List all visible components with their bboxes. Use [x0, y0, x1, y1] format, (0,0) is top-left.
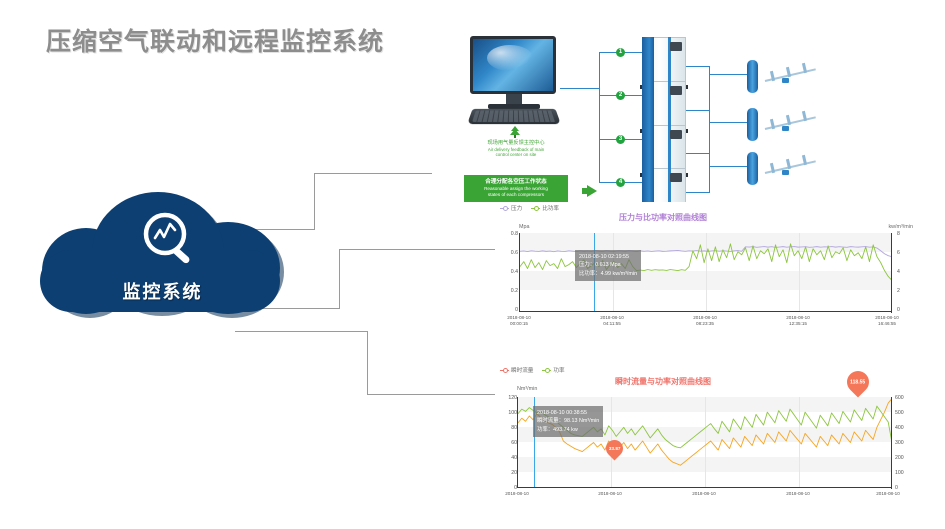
chart2-rtick-0: 600 [895, 395, 915, 401]
chart2-ytick-2: 80 [495, 425, 517, 431]
chart1-xtick-2-time: 08:23:35 [683, 321, 727, 327]
pipe-out-3 [686, 153, 710, 154]
chart2-xtick-0: 2018-08-10 [495, 491, 539, 497]
chart2-xtick-1: 2018-08-10 [588, 491, 632, 497]
chart2-tooltip-row2: 功率：493.74 kw [537, 426, 599, 434]
chart2-marker-2[interactable]: 118.55 [842, 366, 873, 397]
chart1-ylabel: Mpa [519, 224, 530, 230]
chart2-xtick-2-date: 2018-08-10 [682, 491, 726, 497]
system-diagram-panel[interactable]: 现场用气量反馈主控中心 Air delivery feedback of mai… [432, 22, 937, 205]
chart2-legend: 瞬时流量 功率 [500, 366, 565, 374]
outlet-group-2 [747, 104, 822, 146]
chart2-rtick-1: 500 [895, 410, 915, 416]
chart1-legend: 压力 比功率 [500, 204, 559, 212]
node-dot-2: 2 [616, 91, 625, 100]
chart2-ytick-4: 40 [495, 455, 517, 461]
legend-label-power: 功率 [553, 366, 564, 374]
legend-item-flow[interactable]: 瞬时流量 [500, 366, 533, 374]
chart1-tooltip-time: 2018-08-10 02:19:55 [579, 253, 637, 261]
node-dot-4: 4 [616, 178, 625, 187]
pressure-power-chart-panel[interactable]: 压力 比功率 压力与比功率对照曲线图 Mpa kw/m³/min 0.8 0.6… [495, 202, 915, 337]
page-title: 压缩空气联动和远程监控系统 [46, 22, 384, 58]
legend-item-power[interactable]: 功率 [542, 366, 564, 374]
chart1-ytick-4: 0 [499, 307, 518, 313]
working-state-callout: 合理分配各空压工作状态 Reasonable assign the workin… [464, 175, 568, 202]
outlet-group-1 [747, 56, 822, 98]
chart1-ytick-3: 0.2 [499, 288, 518, 294]
pipe-out-4 [686, 192, 710, 193]
chart1-xtick-3-time: 12:35:15 [776, 321, 820, 327]
chart1-title: 压力与比功率对照曲线图 [619, 212, 707, 223]
chart2-rtick-4: 200 [895, 455, 915, 461]
legend-item-pressure[interactable]: 压力 [500, 204, 522, 212]
chart2-ytick-0: 120 [495, 395, 517, 401]
chart2-tooltip-row1: 瞬时流量：98.13 Nm³/min [537, 417, 599, 425]
chart1-xtick-1-time: 04:11:55 [590, 321, 634, 327]
chart2-right-axis [891, 397, 892, 489]
compressor-1[interactable] [642, 37, 686, 85]
flow-power-chart-panel[interactable]: 瞬时流量 功率 瞬时流量与功率对照曲线图 Nm³/min 120 100 80 … [495, 364, 915, 504]
callout-cn: 合理分配各空压工作状态 [467, 179, 565, 186]
chart1-xtick-4: 2018-08-10 16:46:55 [865, 315, 909, 327]
cloud-label: 监控系统 [30, 278, 295, 304]
chart1-xtick-0-time: 00:00:15 [497, 321, 541, 327]
chart2-ytick-1: 100 [495, 410, 517, 416]
pipe-to-tank-1 [709, 74, 751, 75]
chart2-ytick-5: 20 [495, 470, 517, 476]
magnifier-chart-icon [138, 210, 200, 270]
callout-en-2: states of each compressors [467, 192, 565, 198]
legend-label-specific-power: 比功率 [542, 204, 559, 212]
chart1-tooltip-row2: 比功率：4.99 kw/m³/min [579, 270, 637, 278]
chart2-marker-2-label: 118.55 [850, 379, 865, 385]
chart2-ytick-3: 60 [495, 440, 517, 446]
legend-label-flow: 瞬时流量 [511, 366, 533, 374]
chart2-xtick-1-date: 2018-08-10 [588, 491, 632, 497]
chart1-right-axis [891, 233, 892, 313]
chart1-rtick-3: 2 [897, 288, 913, 294]
chart2-tooltip-time: 2018-08-10 00:38:55 [537, 409, 599, 417]
chart2-xtick-0-date: 2018-08-10 [495, 491, 539, 497]
chart1-ytick-1: 0.6 [499, 250, 518, 256]
chart2-xtick-3: 2018-08-10 [776, 491, 820, 497]
chart1-rtick-4: 0 [897, 307, 913, 313]
chart2-marker-1-label: 33.87 [609, 446, 621, 451]
compressor-3[interactable] [642, 125, 686, 173]
chart1-tooltip: 2018-08-10 02:19:55 压力：0.613 Mpa 比功率：4.9… [575, 250, 641, 281]
chart2-xtick-2: 2018-08-10 [682, 491, 726, 497]
chart2-rtick-5: 100 [895, 470, 915, 476]
chart2-rtick-2: 400 [895, 425, 915, 431]
node-dot-3: 3 [616, 135, 625, 144]
pipe-to-tank-3 [709, 166, 751, 167]
legend-label-pressure: 压力 [511, 204, 522, 212]
chart1-xtick-0: 2018-08-10 00:00:15 [497, 315, 541, 327]
outlet-group-3 [747, 148, 822, 190]
chart1-rtick-1: 6 [897, 250, 913, 256]
control-center-monitor [470, 36, 560, 126]
compressor-2[interactable] [642, 81, 686, 129]
chart1-xtick-2: 2018-08-10 08:23:35 [683, 315, 727, 327]
monitor-caption-en-2: control center on site [460, 152, 572, 158]
chart2-ylabel: Nm³/min [517, 386, 537, 392]
chart1-xtick-1: 2018-08-10 04:11:55 [590, 315, 634, 327]
pipe-monitor-to-bus [560, 88, 600, 89]
chart1-ytick-2: 0.4 [499, 269, 518, 275]
chart2-title: 瞬时流量与功率对照曲线图 [615, 376, 711, 387]
chart1-xtick-4-time: 16:46:55 [865, 321, 909, 327]
pipe-left-bus [599, 52, 600, 182]
monitoring-cloud[interactable]: 监控系统 [30, 186, 295, 321]
pipe-to-tank-2 [709, 122, 751, 123]
pipe-right-bus [709, 66, 710, 193]
legend-item-specific-power[interactable]: 比功率 [531, 204, 559, 212]
chart1-tooltip-row1: 压力：0.613 Mpa [579, 261, 637, 269]
chart1-rtick-0: 8 [897, 231, 913, 237]
chart1-rtick-2: 4 [897, 269, 913, 275]
chart2-xtick-4-date: 2018-08-10 [866, 491, 910, 497]
chart1-xtick-3: 2018-08-10 12:35:15 [776, 315, 820, 327]
pipe-out-1 [686, 66, 710, 67]
chart2-rtick-3: 300 [895, 440, 915, 446]
chart1-ylabel-right: kw/m³/min [888, 224, 913, 230]
chart1-ytick-0: 0.8 [499, 231, 518, 237]
node-dot-1: 1 [616, 48, 625, 57]
pipe-out-2 [686, 110, 710, 111]
chart2-tooltip: 2018-08-10 00:38:55 瞬时流量：98.13 Nm³/min 功… [533, 406, 603, 437]
chart2-xtick-4: 2018-08-10 [866, 491, 910, 497]
monitor-caption: 现场用气量反馈主控中心 Air delivery feedback of mai… [460, 140, 572, 158]
chart2-xtick-3-date: 2018-08-10 [776, 491, 820, 497]
